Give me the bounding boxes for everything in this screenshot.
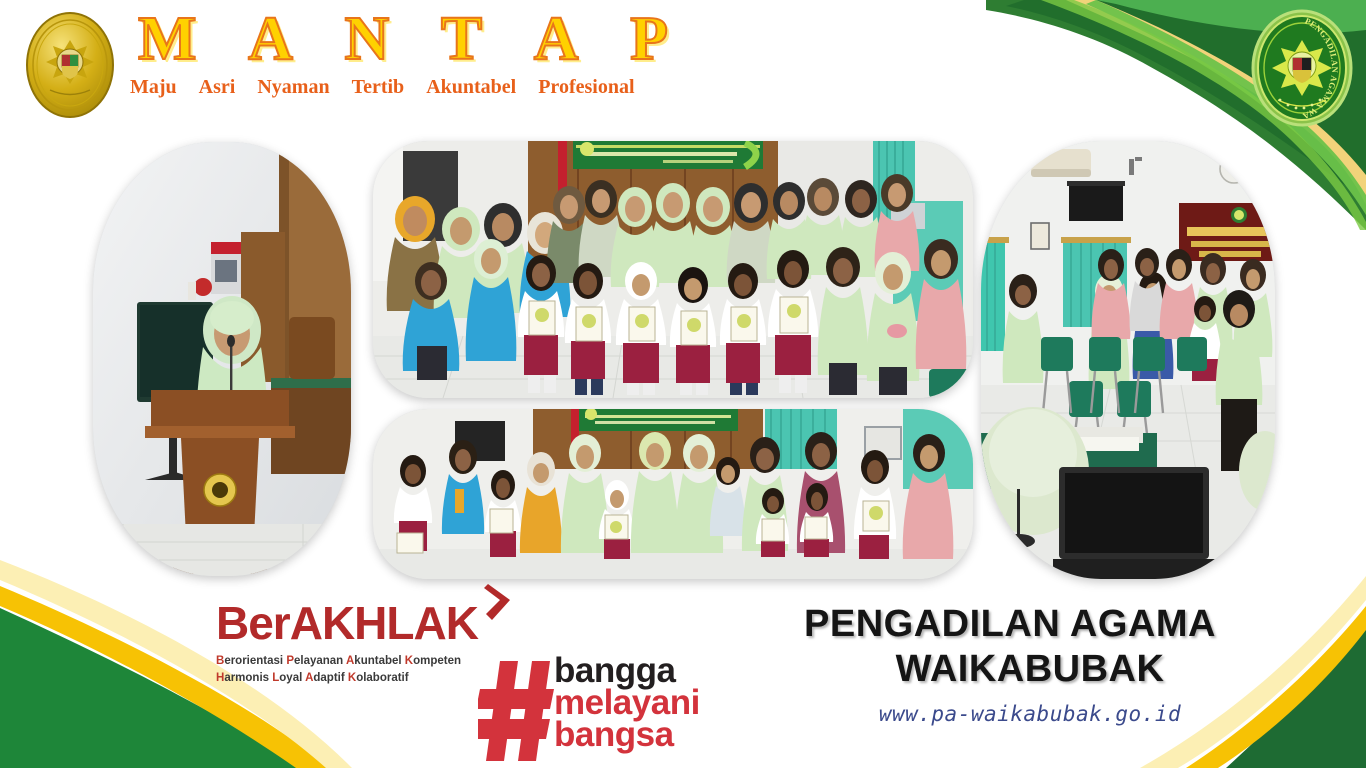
- mantap-value: Profesional: [538, 76, 634, 99]
- poster-canvas: M A N T A P Maju Asri Nyaman Tertib Akun…: [0, 0, 1366, 768]
- rest: kuntabel: [354, 655, 404, 667]
- mantap-letter: P: [630, 8, 668, 70]
- bangga-melayani-bangsa-logo: bangga melayani bangsa: [478, 655, 738, 765]
- mantap-value: Nyaman: [257, 76, 329, 99]
- photo-room-media-center: [981, 141, 1275, 579]
- rest: ompeten: [413, 655, 461, 667]
- court-title-line1: PENGADILAN AGAMA: [760, 602, 1260, 647]
- berakhlak-values-line1: Berorientasi Pelayanan Akuntabel Kompete…: [216, 653, 516, 670]
- pengadilan-agama-seal-icon: PENGADILAN AGAMA WAIKABUBAK: [1250, 8, 1354, 128]
- mantap-letter: T: [441, 8, 482, 70]
- berakhlak-wordmark: BerAKHLAK: [216, 600, 516, 646]
- hashtag-icon: [478, 661, 556, 761]
- rest: olaboratif: [356, 672, 408, 684]
- mantap-value: Akuntabel: [426, 76, 516, 99]
- header: M A N T A P Maju Asri Nyaman Tertib Akun…: [0, 0, 820, 130]
- berakhlak-values-line2: Harmonis Loyal Adaptif Kolaboratif: [216, 670, 516, 687]
- hl: K: [405, 655, 413, 667]
- berakhlak-values: Berorientasi Pelayanan Akuntabel Kompete…: [216, 653, 516, 686]
- mantap-values: Maju Asri Nyaman Tertib Akuntabel Profes…: [130, 76, 742, 99]
- website-url[interactable]: www.pa-waikabubak.go.id: [760, 702, 1260, 726]
- berakhlak-arrow-icon: [484, 582, 518, 622]
- mantap-letter: M: [138, 8, 197, 70]
- mantap-brand: M A N T A P Maju Asri Nyaman Tertib Akun…: [130, 8, 770, 99]
- hl: P: [286, 655, 294, 667]
- mahkamah-agung-seal-icon: [24, 10, 116, 120]
- court-title-line2: WAIKABUBAK: [760, 647, 1260, 692]
- berakhlak-main: AKHLAK: [290, 597, 478, 649]
- bmb-line-bangsa: bangsa: [554, 719, 700, 751]
- photo-podium: [93, 142, 351, 576]
- berakhlak-prefix: Ber: [216, 597, 290, 649]
- mantap-value: Tertib: [352, 76, 405, 99]
- photo-group-bottom: [373, 409, 973, 579]
- rest: erorientasi: [224, 655, 286, 667]
- svg-text:PENGADILAN AGAMA WAIKABUBAK: PENGADILAN AGAMA WAIKABUBAK: [1250, 8, 1340, 122]
- mantap-letter: A: [248, 8, 293, 70]
- mantap-acronym: M A N T A P: [130, 8, 668, 70]
- court-title-block: PENGADILAN AGAMA WAIKABUBAK www.pa-waika…: [760, 602, 1260, 726]
- rest: daptif: [313, 672, 348, 684]
- bangga-text: bangga melayani bangsa: [554, 655, 700, 752]
- mantap-value: Maju: [130, 76, 177, 99]
- rest: oyal: [279, 672, 305, 684]
- photo-group-top: [373, 141, 973, 398]
- hl: K: [348, 672, 356, 684]
- rest: armonis: [224, 672, 272, 684]
- mantap-letter: N: [344, 8, 389, 70]
- mantap-value: Asri: [199, 76, 236, 99]
- rest: elayanan: [294, 655, 346, 667]
- berakhlak-logo: BerAKHLAK Berorientasi Pelayanan Akuntab…: [216, 600, 516, 686]
- mantap-letter: A: [534, 8, 579, 70]
